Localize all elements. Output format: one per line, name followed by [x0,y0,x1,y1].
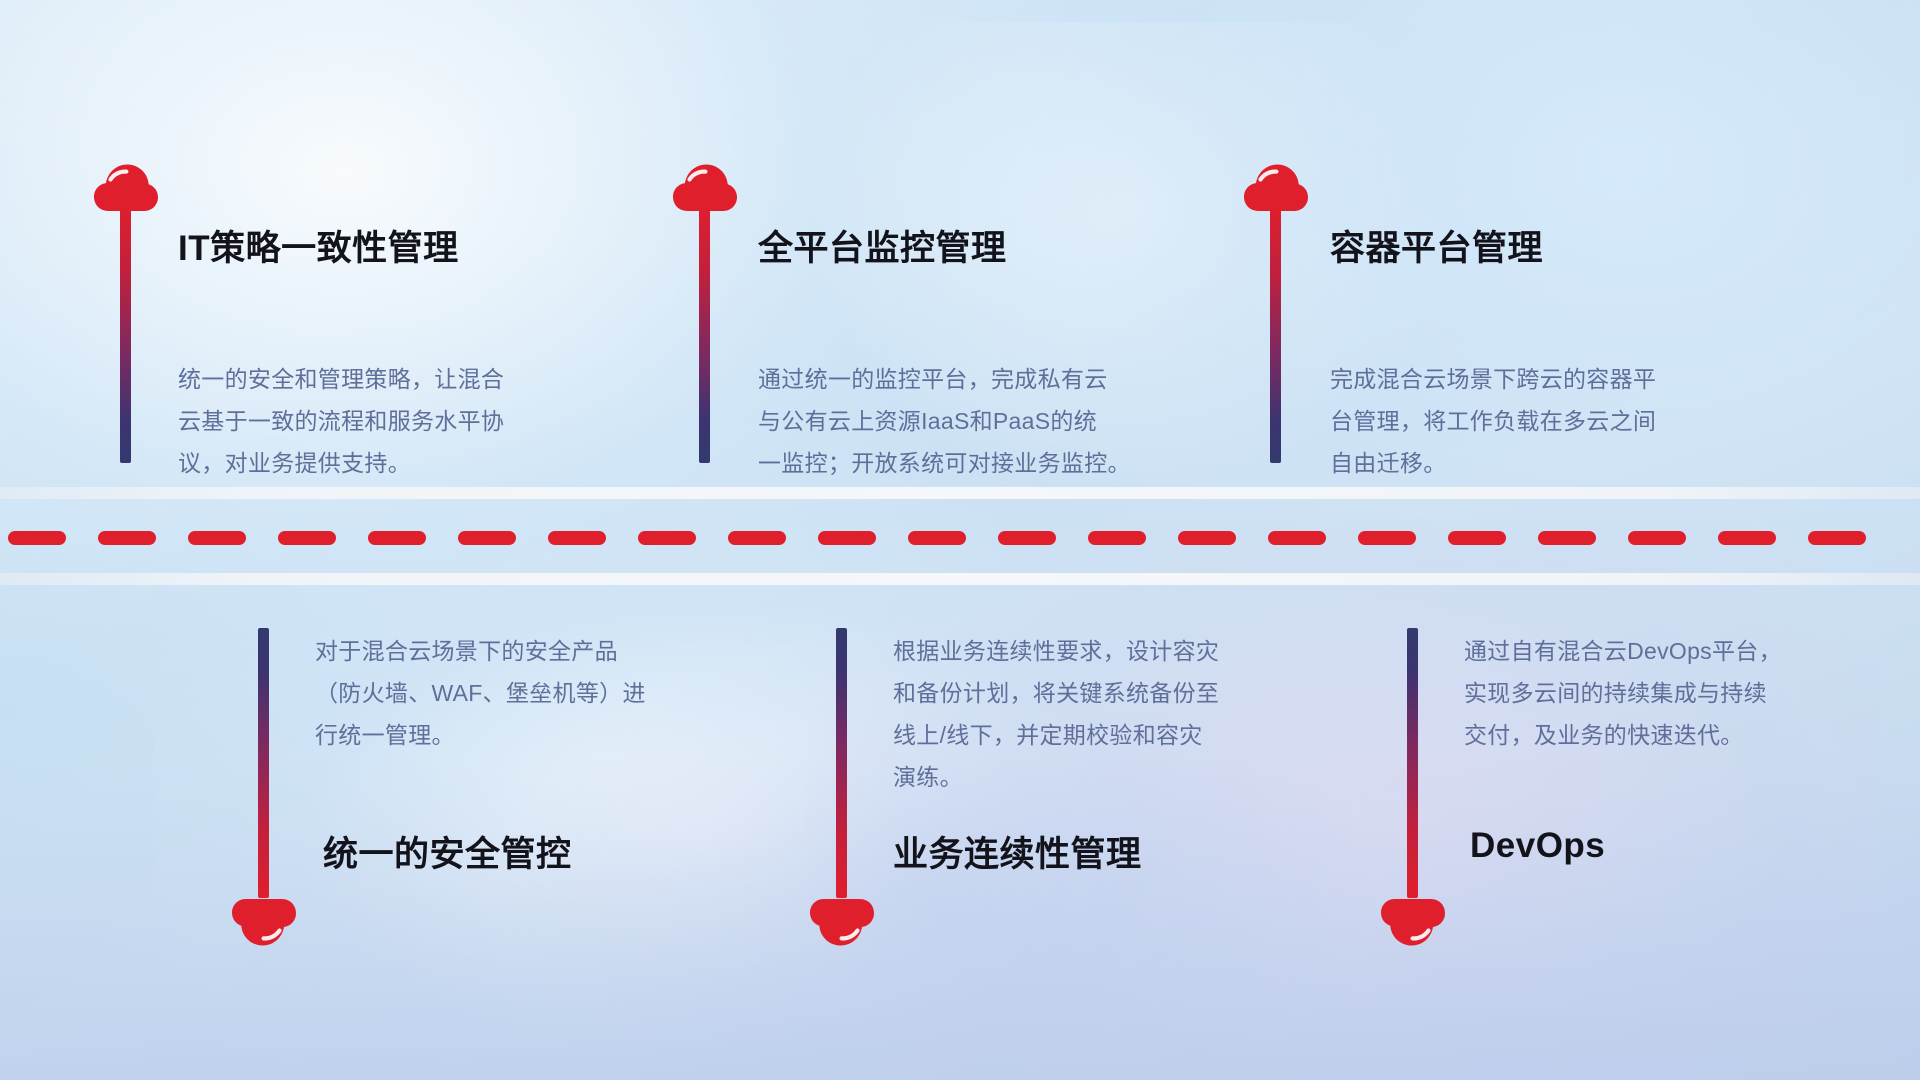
road-dash-segment [1088,531,1146,545]
description-line: 议，对业务提供支持。 [178,442,608,484]
road-dash-segment [1718,531,1776,545]
column-description: 统一的安全和管理策略，让混合 云基于一致的流程和服务水平协 议，对业务提供支持。 [178,358,608,484]
road-center-dashes [0,531,1920,545]
road-dash-segment [818,531,876,545]
column-title: DevOps [1470,826,1605,866]
column-title: 容器平台管理 [1330,220,1543,271]
road-dash-segment [1448,531,1506,545]
description-line: 完成混合云场景下跨云的容器平 [1330,358,1770,400]
description-line: 与公有云上资源IaaS和PaaS的统 [758,400,1208,442]
description-line: （防火墙、WAF、堡垒机等）进 [315,672,735,714]
stem-connector [1270,205,1281,463]
stem-connector [836,628,847,898]
road-dash-segment [638,531,696,545]
description-line: 统一的安全和管理策略，让混合 [178,358,608,400]
road-dash-segment [98,531,156,545]
road-dash-segment [908,531,966,545]
stem-connector [699,205,710,463]
column-title: 全平台监控管理 [758,220,1007,271]
description-line: 演练。 [893,756,1323,798]
column-title: 统一的安全管控 [323,826,572,877]
column-description: 通过自有混合云DevOps平台， 实现多云间的持续集成与持续 交付，及业务的快速… [1464,630,1884,756]
description-line: 自由迁移。 [1330,442,1770,484]
road-dash-segment [728,531,786,545]
road-edge-bottom-line [0,573,1920,585]
description-line: 一监控；开放系统可对接业务监控。 [758,442,1208,484]
road-dash-segment [1178,531,1236,545]
road-dash-segment [1538,531,1596,545]
description-line: 通过自有混合云DevOps平台， [1464,630,1884,672]
column-description: 通过统一的监控平台，完成私有云 与公有云上资源IaaS和PaaS的统 一监控；开… [758,358,1208,484]
cloud-icon [809,897,875,947]
description-line: 交付，及业务的快速迭代。 [1464,714,1884,756]
road-dash-segment [188,531,246,545]
description-line: 行统一管理。 [315,714,735,756]
stem-connector [258,628,269,898]
column-description: 对于混合云场景下的安全产品 （防火墙、WAF、堡垒机等）进 行统一管理。 [315,630,735,756]
road-dash-segment [998,531,1056,545]
description-line: 根据业务连续性要求，设计容灾 [893,630,1323,672]
road-dash-segment [8,531,66,545]
stem-connector [1407,628,1418,898]
cloud-icon [231,897,297,947]
road-dash-segment [1358,531,1416,545]
road-dash-segment [278,531,336,545]
description-line: 线上/线下，并定期校验和容灾 [893,714,1323,756]
stem-connector [120,205,131,463]
column-title: IT策略一致性管理 [178,220,459,271]
cloud-icon [1380,897,1446,947]
column-title: 业务连续性管理 [893,826,1142,877]
column-description: 根据业务连续性要求，设计容灾 和备份计划，将关键系统备份至 线上/线下，并定期校… [893,630,1323,798]
road-dash-segment [1808,531,1866,545]
description-line: 台管理，将工作负载在多云之间 [1330,400,1770,442]
description-line: 通过统一的监控平台，完成私有云 [758,358,1208,400]
road-dash-segment [548,531,606,545]
description-line: 实现多云间的持续集成与持续 [1464,672,1884,714]
road-dash-segment [1268,531,1326,545]
description-line: 云基于一致的流程和服务水平协 [178,400,608,442]
road-edge-top-line [0,487,1920,499]
road-dash-segment [368,531,426,545]
description-line: 对于混合云场景下的安全产品 [315,630,735,672]
column-description: 完成混合云场景下跨云的容器平 台管理，将工作负载在多云之间 自由迁移。 [1330,358,1770,484]
road-dash-segment [458,531,516,545]
road-dash-segment [1628,531,1686,545]
description-line: 和备份计划，将关键系统备份至 [893,672,1323,714]
